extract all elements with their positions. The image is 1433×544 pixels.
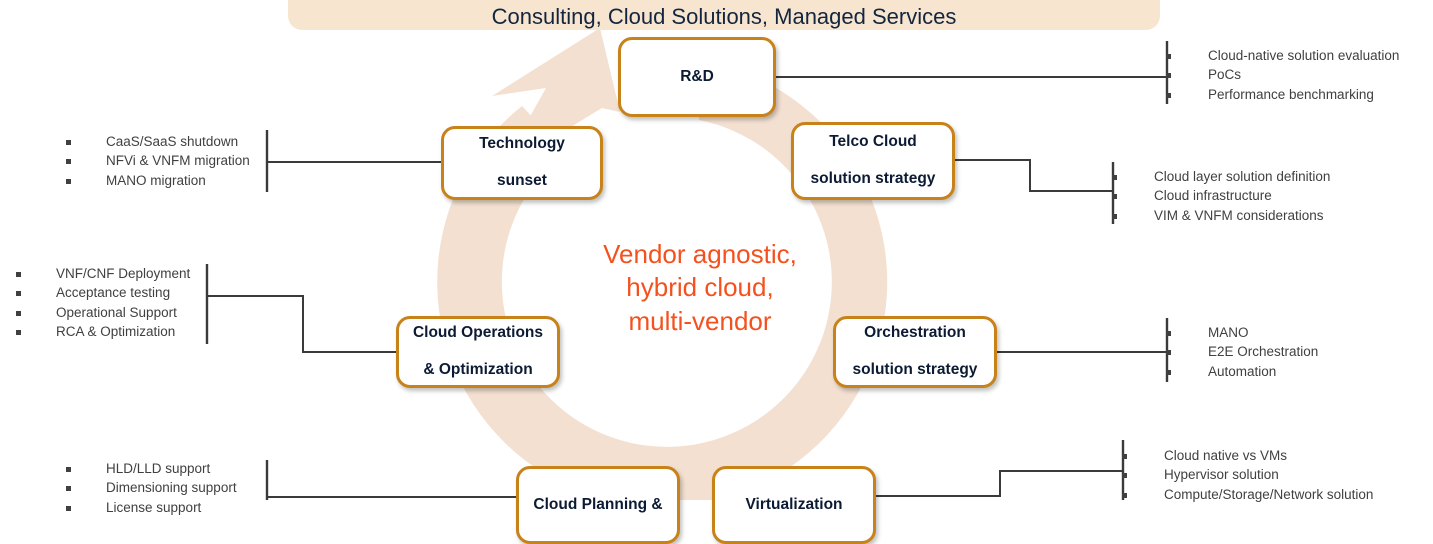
- callout-rd: Cloud-native solution evaluation PoCs Pe…: [1166, 48, 1399, 106]
- header-banner: Consulting, Cloud Solutions, Managed Ser…: [288, 0, 1160, 30]
- callout-rd-list: Cloud-native solution evaluation PoCs Pe…: [1166, 48, 1399, 103]
- node-technology-sunset[interactable]: Technology sunset: [441, 126, 603, 200]
- list-item: PoCs: [1166, 67, 1399, 83]
- node-rd-label: R&D: [674, 68, 720, 87]
- banner-title: Consulting, Cloud Solutions, Managed Ser…: [492, 5, 957, 28]
- list-item: Dimensioning support: [66, 480, 237, 496]
- node-sunset-label: Technology sunset: [467, 135, 577, 191]
- list-item: Operational Support: [16, 305, 190, 321]
- callout-telco-list: Cloud layer solution definition Cloud in…: [1112, 169, 1330, 224]
- center-caption-line-2: hybrid cloud,: [584, 271, 816, 304]
- list-item: RCA & Optimization: [16, 324, 190, 340]
- callout-virtualization-list: Cloud native vs VMs Hypervisor solution …: [1122, 448, 1373, 503]
- node-rd[interactable]: R&D: [618, 37, 776, 117]
- callout-planning-list: HLD/LLD support Dimensioning support Lic…: [66, 461, 237, 516]
- list-item: MANO: [1166, 325, 1318, 341]
- node-orchestration-line-1: Orchestration: [847, 324, 984, 343]
- node-orchestration-label: Orchestration solution strategy: [841, 324, 990, 380]
- list-item: License support: [66, 500, 237, 516]
- center-caption: Vendor agnostic, hybrid cloud, multi-ven…: [584, 238, 816, 338]
- node-cloud-planning[interactable]: Cloud Planning &: [516, 466, 680, 544]
- list-item: Acceptance testing: [16, 285, 190, 301]
- node-planning-label: Cloud Planning &: [527, 496, 668, 515]
- list-item: Cloud-native solution evaluation: [1166, 48, 1399, 64]
- node-operations-line-1: Cloud Operations: [407, 324, 549, 343]
- callout-operations-list: VNF/CNF Deployment Acceptance testing Op…: [16, 266, 190, 341]
- node-telco-line-1: Telco Cloud: [805, 133, 942, 152]
- node-operations-line-2: & Optimization: [407, 361, 549, 380]
- list-item: MANO migration: [66, 173, 250, 189]
- list-item: HLD/LLD support: [66, 461, 237, 477]
- list-item: CaaS/SaaS shutdown: [66, 134, 250, 150]
- node-virtualization[interactable]: Virtualization: [712, 466, 876, 544]
- callout-sunset-list: CaaS/SaaS shutdown NFVi & VNFM migration…: [66, 134, 250, 189]
- list-item: VNF/CNF Deployment: [16, 266, 190, 282]
- diagram-canvas: Consulting, Cloud Solutions, Managed Ser…: [0, 0, 1433, 500]
- callout-operations: VNF/CNF Deployment Acceptance testing Op…: [16, 266, 190, 344]
- list-item: NFVi & VNFM migration: [66, 153, 250, 169]
- list-item: Cloud native vs VMs: [1122, 448, 1373, 464]
- list-item: Performance benchmarking: [1166, 87, 1399, 103]
- node-telco-label: Telco Cloud solution strategy: [799, 133, 948, 189]
- callout-orchestration: MANO E2E Orchestration Automation: [1166, 325, 1318, 383]
- callout-telco: Cloud layer solution definition Cloud in…: [1112, 169, 1330, 227]
- center-caption-line-1: Vendor agnostic,: [584, 238, 816, 271]
- callout-planning: HLD/LLD support Dimensioning support Lic…: [66, 461, 237, 519]
- node-cloud-operations-optimization[interactable]: Cloud Operations & Optimization: [396, 316, 560, 388]
- node-orchestration-solution-strategy[interactable]: Orchestration solution strategy: [833, 316, 997, 388]
- callout-virtualization: Cloud native vs VMs Hypervisor solution …: [1122, 448, 1373, 506]
- list-item: Hypervisor solution: [1122, 467, 1373, 483]
- node-telco-line-2: solution strategy: [805, 170, 942, 189]
- node-sunset-line-2: sunset: [473, 172, 571, 191]
- list-item: Cloud layer solution definition: [1112, 169, 1330, 185]
- node-operations-label: Cloud Operations & Optimization: [401, 324, 555, 380]
- node-telco-cloud-solution-strategy[interactable]: Telco Cloud solution strategy: [791, 122, 955, 200]
- list-item: Automation: [1166, 364, 1318, 380]
- node-sunset-line-1: Technology: [473, 135, 571, 154]
- list-item: Compute/Storage/Network solution: [1122, 487, 1373, 503]
- node-orchestration-line-2: solution strategy: [847, 361, 984, 380]
- callout-technology-sunset: CaaS/SaaS shutdown NFVi & VNFM migration…: [66, 134, 250, 192]
- center-caption-line-3: multi-vendor: [584, 305, 816, 338]
- callout-orchestration-list: MANO E2E Orchestration Automation: [1166, 325, 1318, 380]
- node-virtualization-label: Virtualization: [739, 496, 848, 515]
- list-item: VIM & VNFM considerations: [1112, 208, 1330, 224]
- list-item: Cloud infrastructure: [1112, 188, 1330, 204]
- list-item: E2E Orchestration: [1166, 344, 1318, 360]
